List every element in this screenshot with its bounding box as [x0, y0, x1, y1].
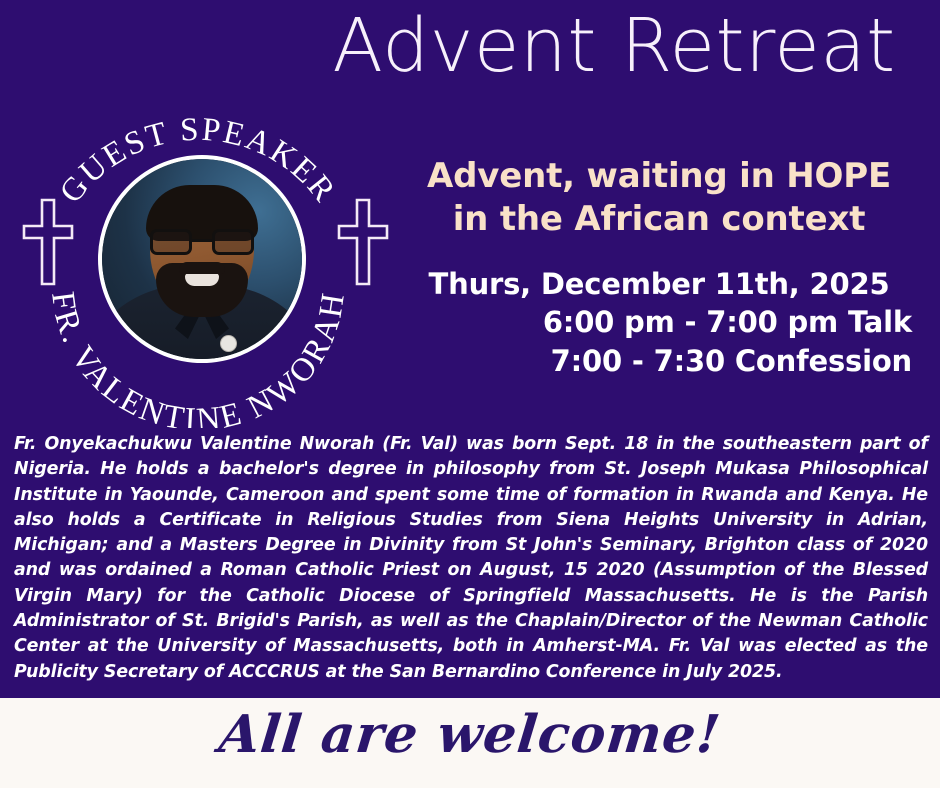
talk-title-line-1: Advent, waiting in HOPE [392, 155, 926, 198]
speaker-biography: Fr. Onyekachukwu Valentine Nworah (Fr. V… [14, 432, 928, 685]
welcome-banner: All are welcome! [0, 700, 940, 788]
talk-title-line-2: in the African context [392, 198, 926, 241]
page-title: Advent Retreat [300, 8, 928, 86]
schedule-date: Thurs, December 11th, 2025 [392, 265, 926, 304]
talk-details: Advent, waiting in HOPE in the African c… [392, 155, 926, 380]
cross-icon-right [337, 198, 389, 286]
welcome-message: All are welcome! [0, 704, 940, 765]
schedule-confession-time: 7:00 - 7:30 Confession [392, 342, 926, 381]
advent-retreat-flyer: Advent Retreat GUEST SPEAKER FR. VALENTI… [0, 0, 940, 788]
talk-title: Advent, waiting in HOPE in the African c… [392, 155, 926, 241]
schedule-block: Thurs, December 11th, 2025 6:00 pm - 7:0… [392, 265, 926, 381]
cross-icon-left [22, 198, 74, 286]
schedule-talk-time: 6:00 pm - 7:00 pm Talk [392, 303, 926, 342]
speaker-portrait [98, 155, 306, 363]
